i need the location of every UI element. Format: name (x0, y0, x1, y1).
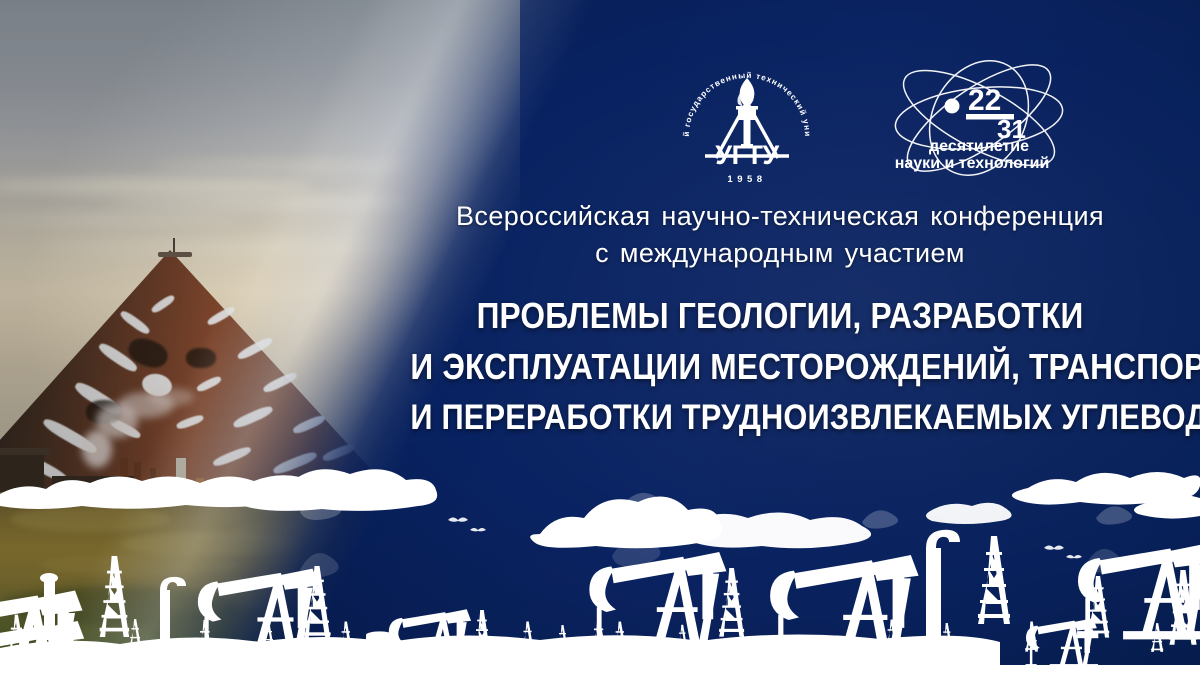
decade-line1: десятилетие (929, 138, 1029, 155)
subtitle-line-2: с международным участием (360, 235, 1200, 272)
ugtu-year: 1958 (727, 174, 766, 185)
conference-text-block: Всероссийская научно-техническая конфере… (360, 198, 1200, 443)
title-line-2: И ЭКСПЛУАТАЦИИ МЕСТОРОЖДЕНИЙ, ТРАНСПОРТА (410, 341, 1149, 392)
logo-row: Ухтинский государственный технический ун… (0, 48, 1200, 188)
decade-year-top: 22 (968, 84, 1001, 117)
decade-line2: науки и технологий (895, 155, 1050, 172)
nucleus-dot (945, 99, 960, 114)
conference-banner: Ухтинский государственный технический ун… (0, 0, 1200, 675)
title-line-1: ПРОБЛЕМЫ ГЕОЛОГИИ, РАЗРАБОТКИ (410, 290, 1149, 341)
title-line-3: И ПЕРЕРАБОТКИ ТРУДНОИЗВЛЕКАЕМЫХ УГЛЕВОДО… (410, 392, 1149, 443)
ugtu-abbr: УГТУ (715, 140, 780, 170)
conference-title: ПРОБЛЕМЫ ГЕОЛОГИИ, РАЗРАБОТКИ И ЭКСПЛУАТ… (410, 290, 1149, 443)
ugtu-logo: Ухтинский государственный технический ун… (672, 52, 822, 192)
subtitle-line-1: Всероссийская научно-техническая конфере… (360, 198, 1200, 235)
conference-subtitle: Всероссийская научно-техническая конфере… (360, 198, 1200, 272)
decade-of-science-logo: 22 31 десятилетие науки и технологий (884, 58, 1074, 176)
